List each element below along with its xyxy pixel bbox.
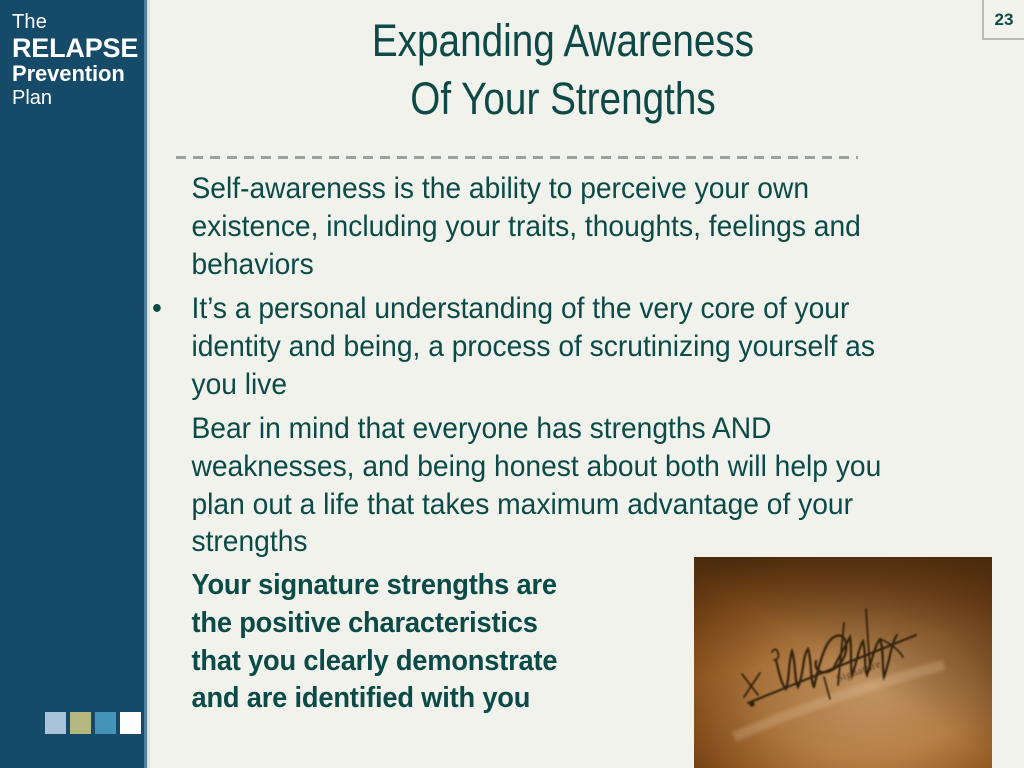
- body-line: existence, including your traits, though…: [191, 208, 1024, 246]
- swatch-light-blue: [45, 712, 66, 734]
- sidebar-edge-light: [147, 0, 150, 768]
- body-paragraph: Self-awareness is the ability to perceiv…: [152, 170, 1024, 284]
- page-title: Expanding Awareness Of Your Strengths: [208, 12, 918, 127]
- page-number-badge: 23: [982, 0, 1024, 40]
- logo-line-prevention: Prevention: [12, 63, 138, 86]
- page-title-line-2: Of Your Strengths: [208, 70, 918, 128]
- swatch-row: [45, 712, 141, 734]
- swatch-white: [120, 712, 141, 734]
- body-line: plan out a life that takes maximum advan…: [191, 486, 1024, 524]
- body-line: strengths: [191, 523, 1024, 561]
- slide: The RELAPSE Prevention Plan 23 Expanding…: [0, 0, 1024, 768]
- body-line: •It’s a personal understanding of the ve…: [191, 290, 1024, 328]
- logo-line-the: The: [12, 12, 138, 33]
- body-line: Bear in mind that everyone has strengths…: [191, 410, 1024, 448]
- brand-logo: The RELAPSE Prevention Plan: [12, 12, 138, 109]
- body-line: identity and being, a process of scrutin…: [191, 328, 1024, 366]
- swatch-blue: [95, 712, 116, 734]
- page-title-line-1: Expanding Awareness: [208, 12, 918, 70]
- signature-photo-graphic: Signature: [694, 557, 992, 768]
- bullet-icon: •: [152, 290, 191, 328]
- page-number: 23: [995, 10, 1014, 30]
- logo-line-relapse: RELAPSE: [12, 34, 138, 62]
- body-paragraph: Bear in mind that everyone has strengths…: [152, 410, 1024, 562]
- sidebar: [0, 0, 144, 768]
- body-line: you live: [191, 366, 1024, 404]
- body-paragraph: •It’s a personal understanding of the ve…: [152, 290, 1024, 404]
- swatch-khaki: [70, 712, 91, 734]
- signature-photo: Signature: [694, 557, 992, 768]
- logo-line-plan: Plan: [12, 88, 138, 109]
- title-divider: [176, 156, 858, 159]
- body-line: Self-awareness is the ability to perceiv…: [191, 170, 1024, 208]
- body-line: behaviors: [191, 246, 1024, 284]
- body-line: weaknesses, and being honest about both …: [191, 448, 1024, 486]
